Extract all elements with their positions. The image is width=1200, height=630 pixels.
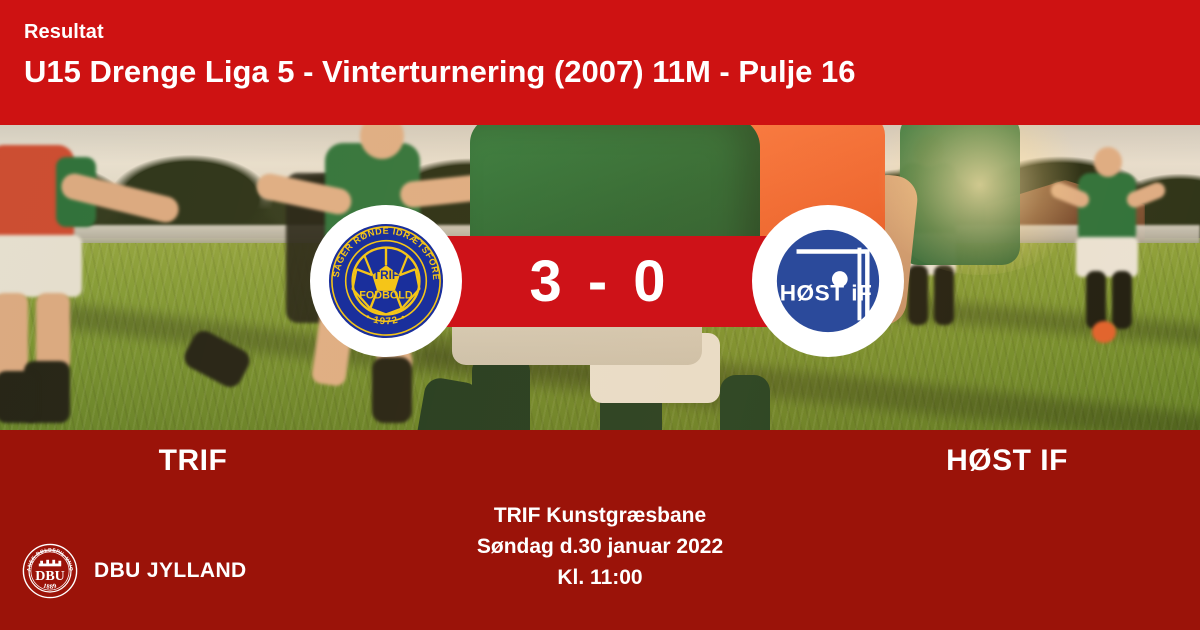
photo-player xyxy=(934,265,954,325)
photo-player xyxy=(0,235,82,297)
trif-crest-icon: TRIF FODBOLD THORSAGER RØNDE IDRÆTSFOREN… xyxy=(327,222,445,340)
organisation-label: DBU JYLLAND xyxy=(94,559,247,583)
photo-player xyxy=(0,371,38,423)
header-banner: Resultat U15 Drenge Liga 5 - Vinterturne… xyxy=(0,0,1200,125)
header-kicker: Resultat xyxy=(24,20,1200,44)
dbu-crest-icon: DBU DANSK BOLDSPIL-UNION 1889 xyxy=(22,543,78,599)
photo-player xyxy=(472,355,530,430)
home-team-crest: TRIF FODBOLD THORSAGER RØNDE IDRÆTSFOREN… xyxy=(310,205,462,357)
footer: DBU DANSK BOLDSPIL-UNION 1889 DBU JYLLAN… xyxy=(22,543,247,599)
away-team-name: HØST IF xyxy=(600,444,1200,478)
away-team-crest: HØST iF xyxy=(752,205,904,357)
dbu-monogram: DBU xyxy=(35,569,65,584)
page-title: U15 Drenge Liga 5 - Vinterturnering (200… xyxy=(24,52,1200,92)
crest-center-top: TRIF xyxy=(373,268,399,282)
photo-player xyxy=(720,375,770,430)
home-team-name: TRIF xyxy=(0,444,600,478)
result-card: Resultat U15 Drenge Liga 5 - Vinterturne… xyxy=(0,0,1200,630)
photo-player xyxy=(36,293,70,371)
photo-ball xyxy=(1092,321,1116,343)
crest-wordmark: HØST iF xyxy=(780,281,873,306)
crest-center-bottom: FODBOLD xyxy=(359,290,413,302)
photo-player xyxy=(1076,237,1138,277)
photo-player xyxy=(1112,271,1132,329)
host-if-crest-icon: HØST iF xyxy=(769,222,887,340)
photo-player xyxy=(372,357,412,423)
photo-player xyxy=(1094,147,1122,177)
photo-player xyxy=(908,265,928,325)
match-venue: TRIF Kunstgræsbane xyxy=(0,500,1200,531)
team-names-row: TRIF HØST IF xyxy=(0,430,1200,492)
